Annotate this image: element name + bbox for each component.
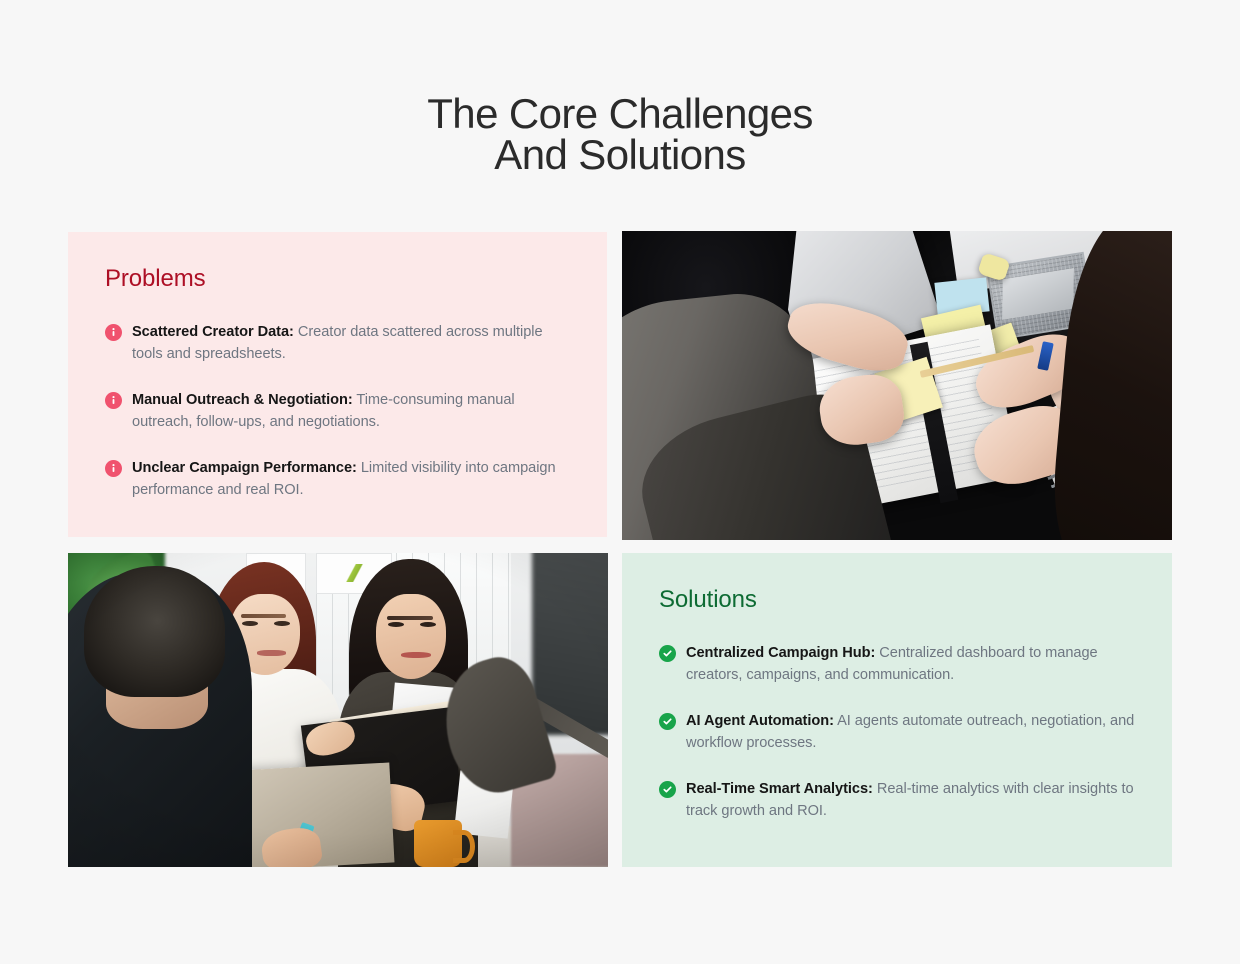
- problems-heading: Problems: [105, 265, 573, 293]
- list-item-text: Real-Time Smart Analytics: Real-time ana…: [686, 778, 1138, 822]
- list-item-text: Centralized Campaign Hub: Centralized da…: [686, 642, 1138, 686]
- list-item-label: AI Agent Automation:: [686, 713, 834, 729]
- info-circle-icon: [105, 392, 122, 409]
- list-item: Scattered Creator Data: Creator data sca…: [105, 321, 573, 365]
- slide-root: The Core Challenges And Solutions Proble…: [0, 0, 1240, 964]
- solutions-panel: Solutions Centralized Campaign Hub: Cent…: [622, 553, 1172, 867]
- list-item-text: Unclear Campaign Performance: Limited vi…: [132, 457, 573, 501]
- check-circle-icon: [659, 781, 676, 798]
- problems-list: Scattered Creator Data: Creator data sca…: [105, 321, 573, 501]
- list-item: Unclear Campaign Performance: Limited vi…: [105, 457, 573, 501]
- list-item: Manual Outreach & Negotiation: Time-cons…: [105, 389, 573, 433]
- list-item: Centralized Campaign Hub: Centralized da…: [659, 642, 1138, 686]
- list-item-text: AI Agent Automation: AI agents automate …: [686, 710, 1138, 754]
- list-item-label: Manual Outreach & Negotiation:: [132, 392, 353, 408]
- list-item-label: Scattered Creator Data:: [132, 324, 294, 340]
- list-item-label: Centralized Campaign Hub:: [686, 645, 875, 661]
- list-item-label: Unclear Campaign Performance:: [132, 460, 357, 476]
- office-team-meeting-photo: [68, 553, 608, 867]
- info-circle-icon: [105, 460, 122, 477]
- list-item-text: Manual Outreach & Negotiation: Time-cons…: [132, 389, 573, 433]
- page-title-line-1: The Core Challenges: [0, 93, 1240, 134]
- problems-panel: Problems Scattered Creator Data: Creator…: [68, 232, 607, 537]
- overhead-desk-collaboration-photo: [622, 231, 1172, 540]
- page-title-line-2: And Solutions: [0, 134, 1240, 175]
- list-item: AI Agent Automation: AI agents automate …: [659, 710, 1138, 754]
- page-title: The Core Challenges And Solutions: [0, 93, 1240, 175]
- check-circle-icon: [659, 645, 676, 662]
- info-circle-icon: [105, 324, 122, 341]
- solutions-heading: Solutions: [659, 586, 1138, 614]
- solutions-list: Centralized Campaign Hub: Centralized da…: [659, 642, 1138, 822]
- list-item: Real-Time Smart Analytics: Real-time ana…: [659, 778, 1138, 822]
- list-item-text: Scattered Creator Data: Creator data sca…: [132, 321, 573, 365]
- list-item-label: Real-Time Smart Analytics:: [686, 781, 873, 797]
- check-circle-icon: [659, 713, 676, 730]
